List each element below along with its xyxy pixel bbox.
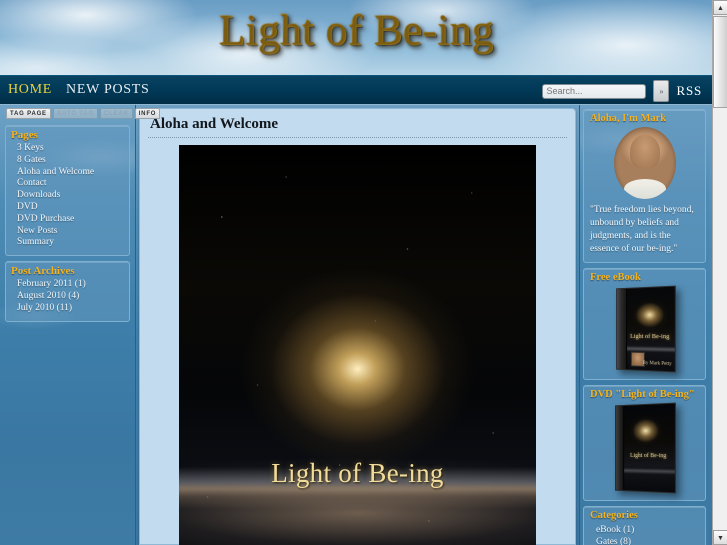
rss-link[interactable]: RSS: [676, 83, 704, 99]
tagger-tabstrip: TAG PAGE AUTO TAG CLEAR INFO: [4, 105, 131, 121]
list-item[interactable]: DVD: [11, 202, 124, 214]
post-archives-panel: Post Archives February 2011 (1) August 2…: [5, 261, 130, 321]
post-archives-list: February 2011 (1) August 2010 (4) July 2…: [11, 279, 124, 314]
scroll-down-arrow-icon[interactable]: ▼: [713, 530, 727, 545]
scrollbar-thumb[interactable]: [713, 16, 727, 108]
main-content-column: Aloha and Welcome Light of Be-ing: [136, 105, 579, 545]
ebook-spine: [617, 289, 627, 369]
tab-clear[interactable]: CLEAR: [100, 108, 133, 119]
vertical-scrollbar[interactable]: ▲ ▼: [712, 0, 727, 545]
list-item[interactable]: Aloha and Welcome: [11, 167, 124, 179]
left-sidebar: TAG PAGE AUTO TAG CLEAR INFO Pages 3 Key…: [0, 105, 136, 545]
ebook-panel-title: Free eBook: [590, 272, 699, 283]
nav-link-home[interactable]: HOME: [8, 82, 52, 98]
right-sidebar: Aloha, I'm Mark "True freedom lies beyon…: [579, 105, 709, 545]
list-item[interactable]: Summary: [11, 237, 124, 249]
hero-image-caption: Light of Be-ing: [179, 458, 536, 489]
pages-panel-title: Pages: [11, 129, 124, 141]
site-header: Light of Be-ing: [0, 0, 712, 75]
main-navbar: HOME NEW POSTS » RSS: [0, 75, 712, 105]
about-quote: "True freedom lies beyond, unbound by be…: [590, 204, 699, 256]
search-input[interactable]: [542, 84, 646, 99]
dvd-band: [624, 467, 675, 474]
tab-auto-tag[interactable]: AUTO TAG: [53, 108, 98, 119]
scroll-up-arrow-icon[interactable]: ▲: [713, 0, 727, 15]
list-item[interactable]: eBook (1): [590, 524, 699, 536]
categories-panel-title: Categories: [590, 510, 699, 521]
ebook-cover-image[interactable]: Light of Be-ing By Mark Petty: [616, 286, 676, 373]
search-submit-button[interactable]: »: [653, 80, 669, 102]
page-root: Light of Be-ing HOME NEW POSTS » RSS TAG…: [0, 0, 727, 545]
body-wrap: TAG PAGE AUTO TAG CLEAR INFO Pages 3 Key…: [0, 105, 712, 545]
ebook-cover-title: Light of Be-ing: [628, 333, 672, 340]
categories-panel: Categories eBook (1) Gates (8): [583, 506, 706, 545]
categories-list: eBook (1) Gates (8): [590, 524, 699, 545]
title-divider: [148, 137, 567, 138]
dvd-panel: DVD "Light of Be-ing" Light of Be-ing: [583, 385, 706, 501]
post-hero-image: Light of Be-ing: [179, 145, 536, 545]
list-item[interactable]: Downloads: [11, 190, 124, 202]
list-item[interactable]: 3 Keys: [11, 143, 124, 155]
list-item[interactable]: July 2010 (11): [11, 303, 124, 315]
site-title: Light of Be-ing: [0, 6, 712, 55]
list-item[interactable]: August 2010 (4): [11, 291, 124, 303]
list-item[interactable]: 8 Gates: [11, 155, 124, 167]
dvd-cover-title: Light of Be-ing: [625, 453, 672, 459]
avatar: [614, 127, 676, 199]
dvd-panel-title: DVD "Light of Be-ing": [590, 389, 699, 400]
post-card: Aloha and Welcome Light of Be-ing: [139, 108, 576, 545]
list-item[interactable]: Gates (8): [590, 536, 699, 545]
dvd-cover-image[interactable]: Light of Be-ing: [615, 403, 676, 494]
nav-links: HOME NEW POSTS: [0, 82, 149, 98]
post-archives-title: Post Archives: [11, 265, 124, 277]
about-panel-title: Aloha, I'm Mark: [590, 113, 699, 124]
about-panel: Aloha, I'm Mark "True freedom lies beyon…: [583, 109, 706, 263]
list-item[interactable]: Contact: [11, 178, 124, 190]
pages-panel: Pages 3 Keys 8 Gates Aloha and Welcome C…: [5, 125, 130, 256]
tab-tag-page[interactable]: TAG PAGE: [6, 108, 51, 119]
nav-link-new-posts[interactable]: NEW POSTS: [66, 82, 149, 98]
pages-list: 3 Keys 8 Gates Aloha and Welcome Contact…: [11, 143, 124, 249]
list-item[interactable]: New Posts: [11, 226, 124, 238]
nav-right-group: » RSS: [542, 80, 704, 102]
page-title: Aloha and Welcome: [148, 115, 567, 137]
tab-info[interactable]: INFO: [135, 108, 161, 119]
ebook-panel: Free eBook Light of Be-ing By Mark Petty: [583, 268, 706, 380]
list-item[interactable]: DVD Purchase: [11, 214, 124, 226]
dvd-spine: [616, 406, 624, 490]
list-item[interactable]: February 2011 (1): [11, 279, 124, 291]
ebook-cover-author: By Mark Petty: [641, 361, 672, 367]
